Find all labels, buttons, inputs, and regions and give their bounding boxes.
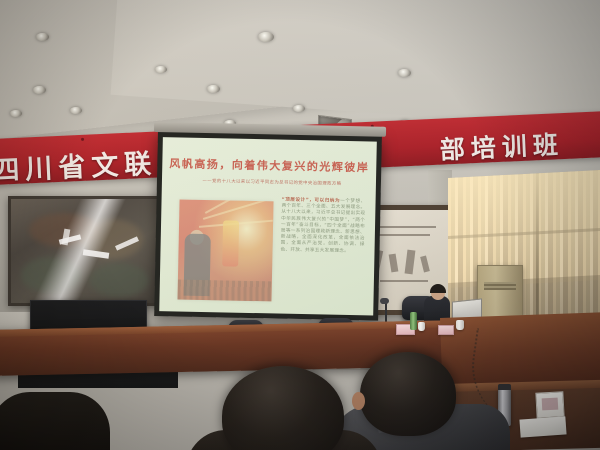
calligraphy-stroke [405, 250, 416, 275]
calligraphy-stroke [378, 234, 430, 236]
thermos-cap [498, 384, 511, 390]
sunlight-glow [448, 170, 600, 288]
slide-body-paragraph: 一个梦想、两个百年、三个全面、五大发展理念。从十八大以来，习近平总书记提出实现中… [280, 199, 365, 254]
slide-photo [177, 199, 273, 301]
slide-subtitle: ——党的十八大以来以习近平同志为总书记的党中央治国理政方略 [176, 177, 368, 187]
audience-member-1-head [222, 366, 344, 450]
slide-body-text: “顶层设计”，可以归纳为一个梦想、两个百年、三个全面、五大发展理念。从十八大以来… [280, 198, 365, 256]
photo-card-image [542, 398, 559, 411]
recessed-downlight [155, 66, 167, 73]
lecturer-hair [430, 284, 446, 293]
slide-crowd [177, 279, 271, 301]
audience-member-left [0, 392, 110, 450]
recessed-downlight [258, 32, 274, 42]
calligraphy-stroke [389, 254, 399, 273]
recessed-downlight [10, 110, 22, 117]
ac-vent-grille [484, 282, 516, 290]
audience-member-2-head [360, 352, 456, 436]
recessed-downlight [70, 107, 82, 114]
calligraphy-stroke [380, 280, 428, 282]
green-bottle [410, 312, 417, 330]
microphone-head [380, 298, 389, 304]
slide-red-lantern [222, 220, 239, 266]
banner-text-left: 四川省文联 [0, 142, 158, 188]
banner-pin [81, 138, 84, 141]
projection-screen: 风帆高扬，向着伟大复兴的光辉彼岸 ——党的十八大以来以习近平同志为总书记的党中央… [154, 131, 382, 321]
slide-title: 风帆高扬，向着伟大复兴的光辉彼岸 [162, 155, 376, 175]
banner-text-right: 部培训班 [439, 125, 565, 167]
calligraphy-stroke [420, 256, 430, 273]
paper-cup [456, 320, 464, 330]
audience-2-ear [352, 392, 365, 410]
recessed-downlight [398, 69, 411, 77]
recessed-downlight [33, 86, 46, 94]
calligraphy-stroke [374, 226, 436, 228]
projected-slide: 风帆高扬，向着伟大复兴的光辉彼岸 ——党的十八大以来以习近平同志为总书记的党中央… [159, 137, 377, 315]
recessed-downlight [36, 33, 49, 41]
paper-cup [418, 322, 425, 331]
painting-glass-glare [11, 199, 161, 303]
paper-sheet [519, 416, 566, 437]
photo-scene: 四川省文联 部培训班 风帆高 [0, 0, 600, 450]
slide-light-ray [205, 199, 259, 213]
recessed-downlight [207, 85, 220, 93]
recessed-downlight [293, 105, 305, 112]
place-card [438, 325, 454, 335]
photo-card [535, 391, 564, 418]
framed-landscape-painting [8, 196, 164, 306]
